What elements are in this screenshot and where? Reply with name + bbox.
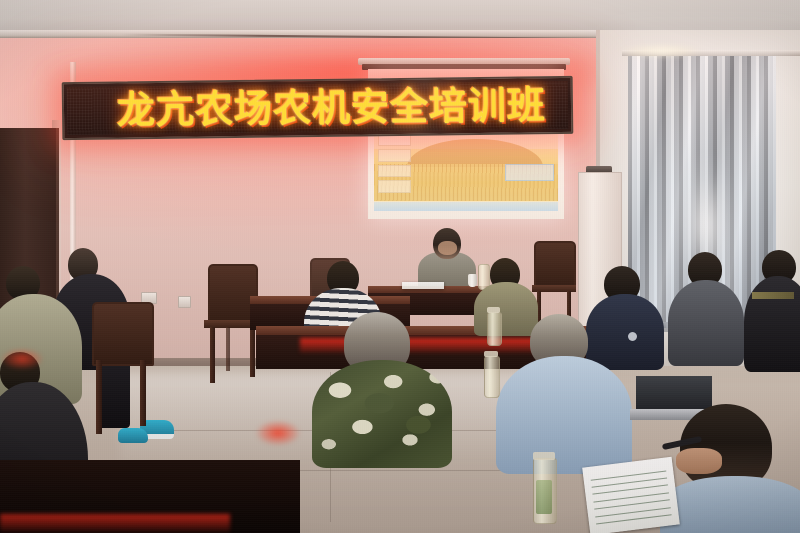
laptop-lid[interactable] [636,376,712,410]
presenter-papers[interactable] [402,282,444,289]
thermos-lid [487,307,500,313]
chair-leg [96,360,102,434]
attendee-camouflage-jacket [312,360,452,468]
attendee-light-blue-shirt [496,356,632,474]
power-outlet-icon [178,296,191,308]
floor-led-reflection [0,514,230,533]
attendee-olive-shirt-center [474,282,538,336]
attendee-dark-uniform-right [744,276,800,372]
uniform-trim [752,292,794,299]
attendee-navy-shirt [586,294,664,370]
attendee-glasses-reading [660,476,800,533]
thermos-lid [533,452,555,460]
chair-leg [226,327,230,371]
handout-text-lines [590,467,671,528]
glass-thermos[interactable] [484,356,500,398]
presenter-face [438,241,457,255]
chair-back[interactable] [534,241,576,291]
ceiling [0,0,800,34]
attendee-gray-suit-right [668,280,744,366]
chair-leg [210,327,215,383]
window-top-light [618,44,704,58]
glass-thermos[interactable] [487,312,502,346]
chair-leg [250,327,255,377]
led-banner-board: 龙亢农场农机安全培训班 [62,76,574,140]
thermos-lid [484,351,498,357]
led-reflection-patch [0,348,44,370]
chair-back[interactable] [92,302,154,366]
attendee-ear [676,448,722,474]
blue-sneaker [118,428,148,443]
tea-leaves [536,480,552,514]
chair-leg [140,360,146,426]
led-sweep-highlight [64,78,572,138]
led-reflection-patch [255,420,301,446]
shirt-badge [628,332,637,341]
presenter-cup[interactable] [468,274,477,287]
printed-handout[interactable] [582,457,680,533]
training-room-photo: 龙亢农场农机安全培训班 [0,0,800,533]
